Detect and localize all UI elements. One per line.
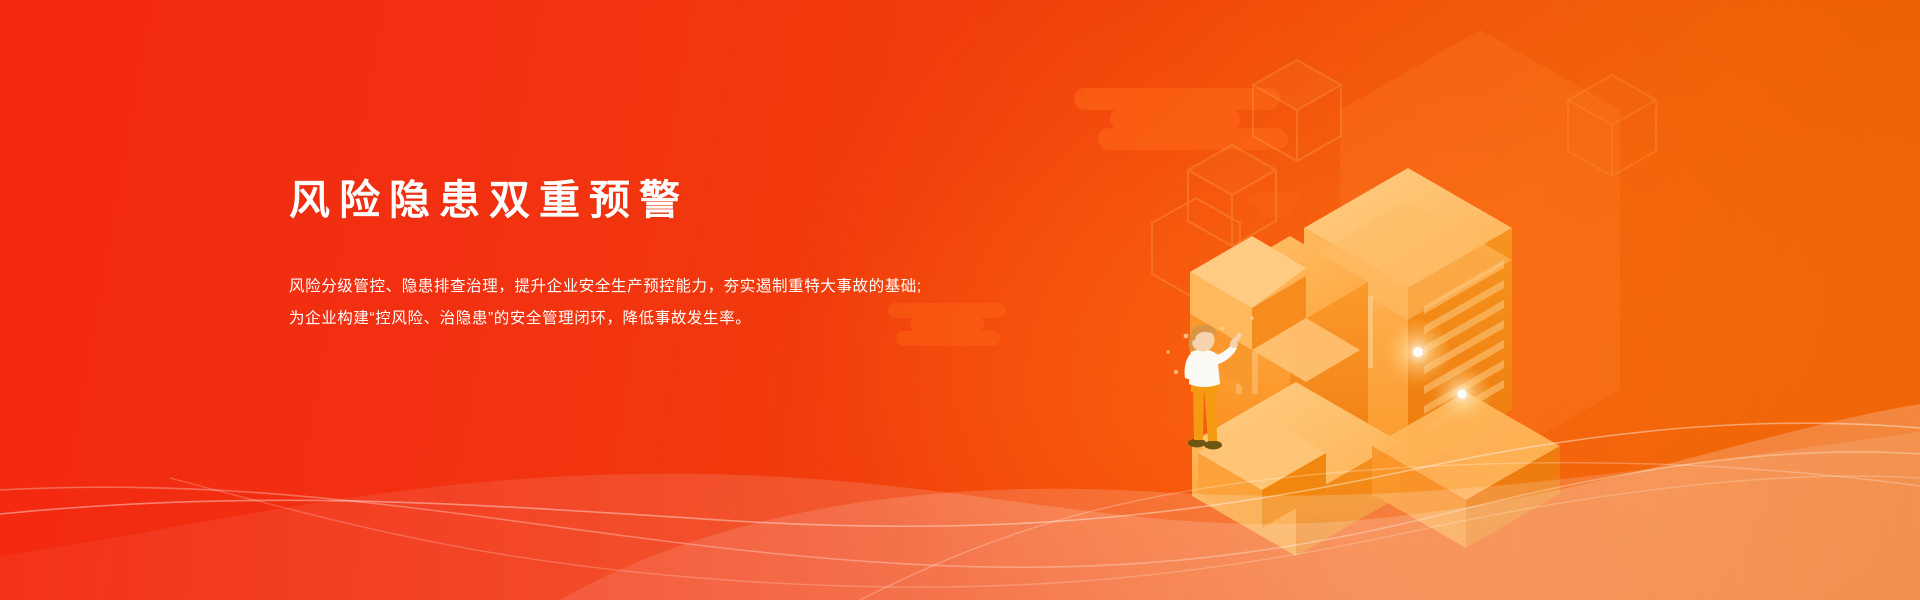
isometric-slab-right — [1372, 392, 1560, 548]
person-shirt — [1185, 344, 1237, 387]
glow-dot — [1432, 364, 1492, 424]
hero-subtitle: 风险分级管控、隐患排查治理，提升企业安全生产预控能力，夯实遏制重特大事故的基础;… — [289, 225, 1049, 335]
cloud-shape-tiny — [1246, 193, 1300, 217]
isometric-block-low — [1192, 382, 1400, 556]
backdrop-prism — [1340, 30, 1620, 190]
wave-line — [0, 423, 1920, 526]
backdrop-prism — [1232, 250, 1340, 520]
sparkle-particles — [1166, 316, 1253, 400]
wave-line — [860, 463, 1920, 600]
hexagon-cube-outline — [1568, 75, 1656, 176]
person-shoes — [1188, 439, 1222, 450]
person-hair — [1191, 325, 1217, 341]
hero-copy: 风险隐患双重预警 风险分级管控、隐患排查治理，提升企业安全生产预控能力，夯实遏制… — [289, 176, 1049, 335]
isometric-block-low — [1198, 416, 1326, 528]
hero-subtitle-line-1: 风险分级管控、隐患排查治理，提升企业安全生产预控能力，夯实遏制重特大事故的基础; — [289, 271, 1049, 303]
wave-line — [170, 476, 1920, 587]
hero-banner: 风险隐患双重预警 风险分级管控、隐患排查治理，提升企业安全生产预控能力，夯实遏制… — [0, 0, 1920, 600]
isometric-tower-mid — [1212, 236, 1368, 470]
hexagon-cube-outline — [1188, 145, 1276, 246]
isometric-chevron-slab — [1190, 236, 1360, 424]
page-title: 风险隐患双重预警 — [289, 176, 1049, 225]
backdrop-prism — [1340, 110, 1480, 470]
wave-fill — [560, 432, 1920, 600]
hexagon-cube-outline — [1253, 60, 1341, 161]
glow-dot — [1384, 318, 1452, 386]
hexagon-cube-outline — [1152, 198, 1240, 299]
person-face — [1192, 329, 1215, 352]
hero-subtitle-line-2: 为企业构建“控风险、治隐患”的安全管理闭环，降低事故发生率。 — [289, 303, 1049, 335]
backdrop-prism — [1480, 110, 1620, 470]
wave-line — [0, 452, 1920, 567]
person-pants — [1191, 380, 1218, 441]
cloud-shape-large — [1074, 88, 1288, 150]
wave-fill — [0, 404, 1920, 600]
person-hand — [1230, 332, 1242, 348]
isometric-tower-tall — [1304, 168, 1512, 470]
person-hair — [1189, 338, 1195, 350]
